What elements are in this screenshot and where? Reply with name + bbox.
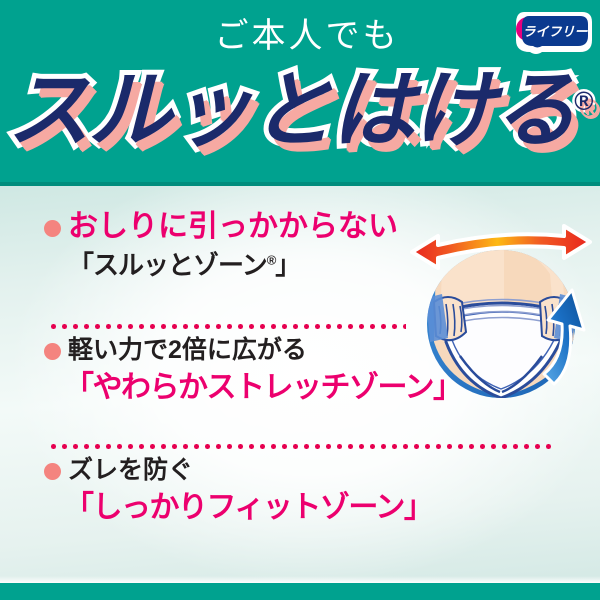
feature-1-zone-text: 「スルッとゾーン [68,250,267,280]
headline-main: スルッとはける [7,63,574,157]
headline-registered-mark: ® [574,86,593,116]
feature-2-zone-name: 「やわらかストレッチゾーン」 [64,373,462,403]
headline-wrapper: スルッとはける® [0,66,600,171]
divider-1 [48,324,406,329]
advertisement-poster: ご本人でも スルッとはける® ライフリー [0,0,600,600]
feature-3-line1-row: ズレを防ぐ [44,458,432,483]
bullet-dot-icon [44,463,61,480]
feature-1-zone-name: 「スルッとゾーン®」 [68,252,398,278]
feature-1-headline: おしりに引っかからない [68,212,398,242]
feature-1-zone-close: 」 [275,250,300,280]
feature-1-line1-row: おしりに引っかからない [44,212,398,242]
feature-2-headline: 軽い力で2倍に広がる [68,338,307,363]
footer-sheen [0,576,600,583]
feature-item-2: 軽い力で2倍に広がる 「やわらかストレッチゾーン」 [44,338,462,403]
feature-item-1: おしりに引っかからない 「スルッとゾーン®」 [44,212,398,278]
feature-2-line1-row: 軽い力で2倍に広がる [44,338,462,363]
header-band: ご本人でも スルッとはける® ライフリー [0,0,600,186]
lifree-logo-icon: ライフリー [516,12,592,54]
bullet-dot-icon [44,343,61,360]
feature-item-3: ズレを防ぐ 「しっかりフィットゾーン」 [44,458,432,523]
feature-3-zone-name: 「しっかりフィットゾーン」 [64,493,432,523]
brand-logo[interactable]: ライフリー [512,8,594,56]
bullet-dot-icon [44,220,61,237]
feature-3-headline: ズレを防ぐ [68,458,193,483]
footer-band [0,583,600,600]
kicker-text: ご本人でも [0,18,600,55]
feature-1-registered-mark: ® [267,252,276,267]
divider-2 [48,444,554,449]
body-area: おしりに引っかからない 「スルッとゾーン®」 軽い力で2倍に広がる 「やわらかス… [0,186,600,583]
headline-text: スルッとはける® [7,66,593,154]
logo-wordmark: ライフリー [522,24,588,39]
